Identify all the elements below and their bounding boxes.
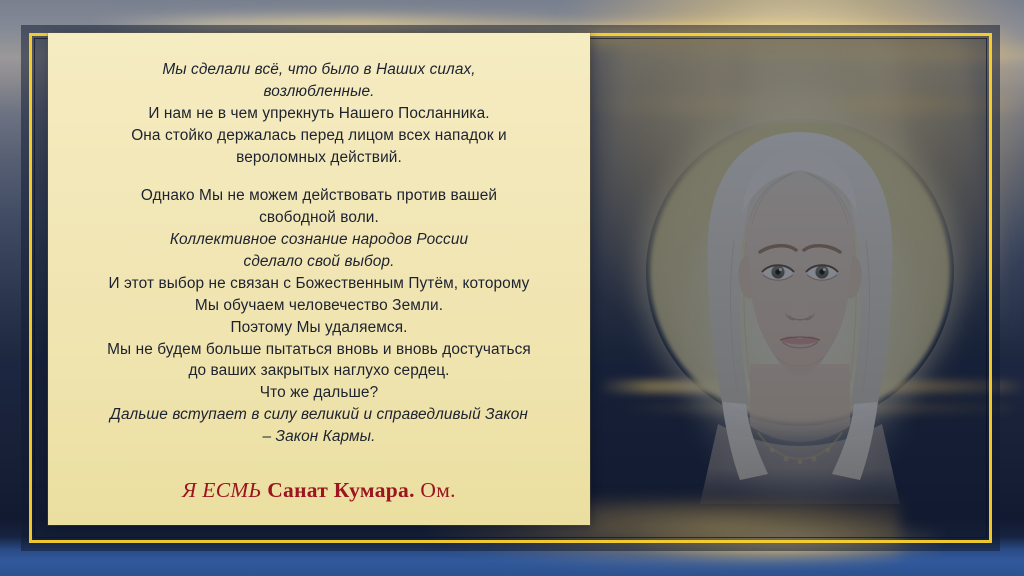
signature-name: Санат Кумара. bbox=[267, 478, 415, 502]
message-line: И нам не в чем упрекнуть Нашего Посланни… bbox=[70, 103, 568, 125]
message-line: Дальше вступает в силу великий и справед… bbox=[70, 404, 568, 426]
message-line: Коллективное сознание народов России bbox=[70, 229, 568, 251]
message-line: Что же дальше? bbox=[70, 382, 568, 404]
message-line: – Закон Кармы. bbox=[70, 426, 568, 448]
paragraph-1: Мы сделали всё, что было в Наших силах, … bbox=[70, 59, 568, 168]
message-line: Мы не будем больше пытаться вновь и внов… bbox=[70, 339, 568, 361]
message-line: Поэтому Мы удаляемся. bbox=[70, 317, 568, 339]
message-line: до ваших закрытых наглухо сердец. bbox=[70, 360, 568, 382]
message-card-image: Мы сделали всё, что было в Наших силах, … bbox=[0, 0, 1024, 576]
paragraph-2: Однако Мы не можем действовать против ва… bbox=[70, 185, 568, 448]
message-line: И этот выбор не связан с Божественным Пу… bbox=[70, 273, 568, 295]
message-card: Мы сделали всё, что было в Наших силах, … bbox=[48, 33, 590, 525]
message-line: вероломных действий. bbox=[70, 147, 568, 169]
message-line: возлюбленные. bbox=[70, 81, 568, 103]
message-line: Мы обучаем человечество Земли. bbox=[70, 295, 568, 317]
message-line: Мы сделали всё, что было в Наших силах, bbox=[70, 59, 568, 81]
signature-line: Я ЕСМЬ Санат Кумара. Ом. bbox=[70, 475, 568, 506]
message-line: Она стойко держалась перед лицом всех на… bbox=[70, 125, 568, 147]
message-line: сделало свой выбор. bbox=[70, 251, 568, 273]
message-line: свободной воли. bbox=[70, 207, 568, 229]
message-line: Однако Мы не можем действовать против ва… bbox=[70, 185, 568, 207]
message-body: Мы сделали всё, что было в Наших силах, … bbox=[70, 59, 568, 505]
signature-prefix: Я ЕСМЬ bbox=[182, 478, 267, 502]
signature-suffix: Ом. bbox=[415, 478, 456, 502]
